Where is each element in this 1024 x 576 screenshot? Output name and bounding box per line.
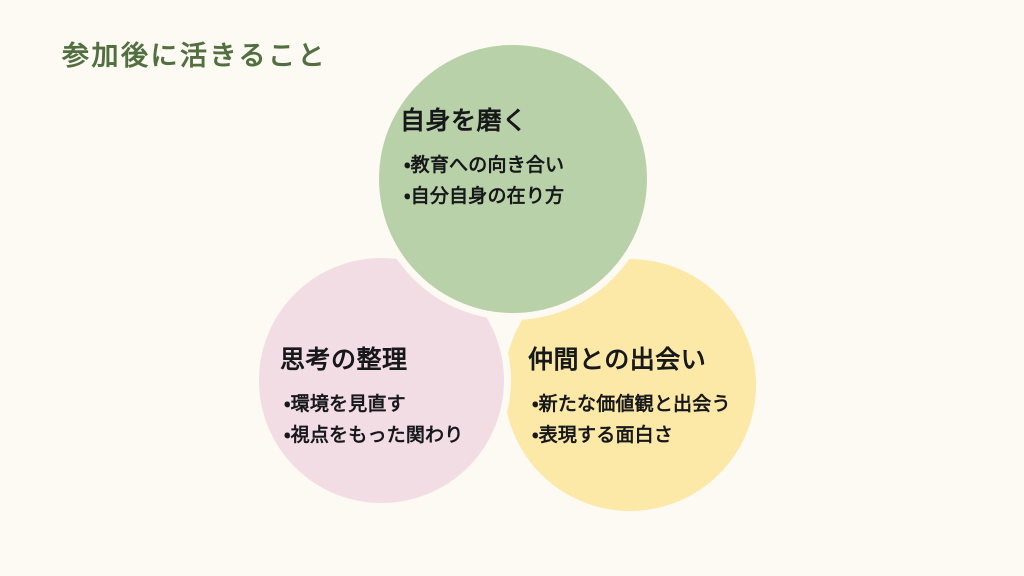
venn-lobe-top-heading: 自身を磨く	[400, 106, 564, 137]
venn-lobe-right-list: ・新たな価値観と出会う ・表現する面白さ	[528, 390, 731, 452]
venn-lobe-right: 仲間との出会い ・新たな価値観と出会う ・表現する面白さ	[528, 345, 731, 452]
list-item: ・視点をもった関わり	[284, 421, 463, 452]
venn-lobe-left-list: ・環境を見直す ・視点をもった関わり	[280, 390, 463, 452]
venn-lobe-top: 自身を磨く ・教育への向き合い ・自分自身の在り方	[400, 106, 564, 213]
venn-lobe-top-list: ・教育への向き合い ・自分自身の在り方	[400, 151, 564, 213]
list-item: ・教育への向き合い	[404, 151, 564, 182]
list-item: ・自分自身の在り方	[404, 182, 564, 213]
list-item: ・環境を見直す	[284, 390, 463, 421]
slide-canvas: 参加後に活きること 自身を磨く ・教育への向き合い ・自分自身の在り方 思考の整…	[0, 0, 1024, 576]
list-item: ・新たな価値観と出会う	[532, 390, 731, 421]
venn-diagram: 自身を磨く ・教育への向き合い ・自分自身の在り方 思考の整理 ・環境を見直す …	[0, 0, 1024, 576]
venn-lobe-right-heading: 仲間との出会い	[528, 345, 731, 376]
venn-lobe-left: 思考の整理 ・環境を見直す ・視点をもった関わり	[280, 345, 463, 452]
list-item: ・表現する面白さ	[532, 421, 731, 452]
venn-lobe-left-heading: 思考の整理	[280, 345, 463, 376]
